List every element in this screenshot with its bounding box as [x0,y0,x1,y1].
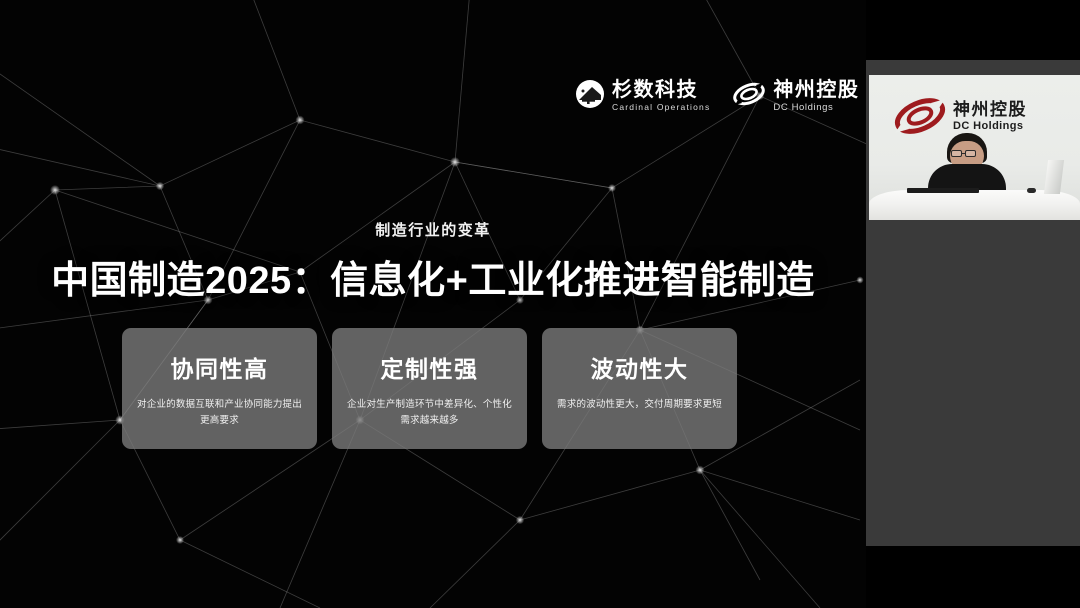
backdrop-dc-holdings-logo: 神州控股 DC Holdings [893,95,1063,137]
logo-dc-holdings: 神州控股 DC Holdings [732,79,859,114]
desk-mouse [1027,188,1036,193]
logo-dc-cn: 神州控股 [773,80,859,100]
slide-headline: 中国制造2025：信息化+工业化推进智能制造 [0,249,866,304]
logo-dc-en: DC Holdings [773,103,859,113]
speaker-video-feed[interactable]: 神州控股 DC Holdings [869,75,1080,220]
presentation-slide: 杉数科技 Cardinal Operations [0,0,866,608]
screen-recording-view: 杉数科技 Cardinal Operations [0,0,1080,608]
feature-card-title: 协同性高 [171,350,269,384]
feature-card: 协同性高 对企业的数据互联和产业协同能力提出更高要求 [122,328,317,449]
slide-logo-row: 杉数科技 Cardinal Operations [575,72,850,120]
feature-card: 定制性强 企业对生产制造环节中差异化、个性化需求越来越多 [332,328,527,449]
eyeglasses-left-lens-icon [951,150,962,157]
eyeglasses-bridge-icon [962,153,965,154]
logo-cardinal-en: Cardinal Operations [612,103,710,112]
logo-cardinal-operations: 杉数科技 Cardinal Operations [575,79,710,114]
feature-card-desc: 需求的波动性更大，交付周期要求更短 [554,397,726,413]
feature-card-title: 定制性强 [381,350,479,384]
feature-card: 波动性大 需求的波动性更大，交付周期要求更短 [542,328,737,449]
slide-eyebrow: 制造行业的变革 [0,219,866,240]
eyeglasses-right-lens-icon [965,150,976,157]
dc-holdings-swirl-icon [893,96,947,136]
feature-card-group: 协同性高 对企业的数据互联和产业协同能力提出更高要求 定制性强 企业对生产制造环… [122,328,738,449]
backdrop-logo-en: DC Holdings [953,121,1027,132]
dc-holdings-swirl-icon [732,79,766,114]
feature-card-desc: 企业对生产制造环节中差异化、个性化需求越来越多 [344,397,516,428]
cardinal-operations-circle-icon [575,79,605,114]
logo-cardinal-cn: 杉数科技 [612,80,710,100]
speaker-video-panel[interactable]: 神州控股 DC Holdings [866,60,1080,546]
backdrop-logo-cn: 神州控股 [953,101,1027,118]
feature-card-title: 波动性大 [591,350,689,384]
desk-surface [869,190,1080,220]
desk-item-dark-bar [907,188,979,193]
feature-card-desc: 对企业的数据互联和产业协同能力提出更高要求 [134,397,306,428]
